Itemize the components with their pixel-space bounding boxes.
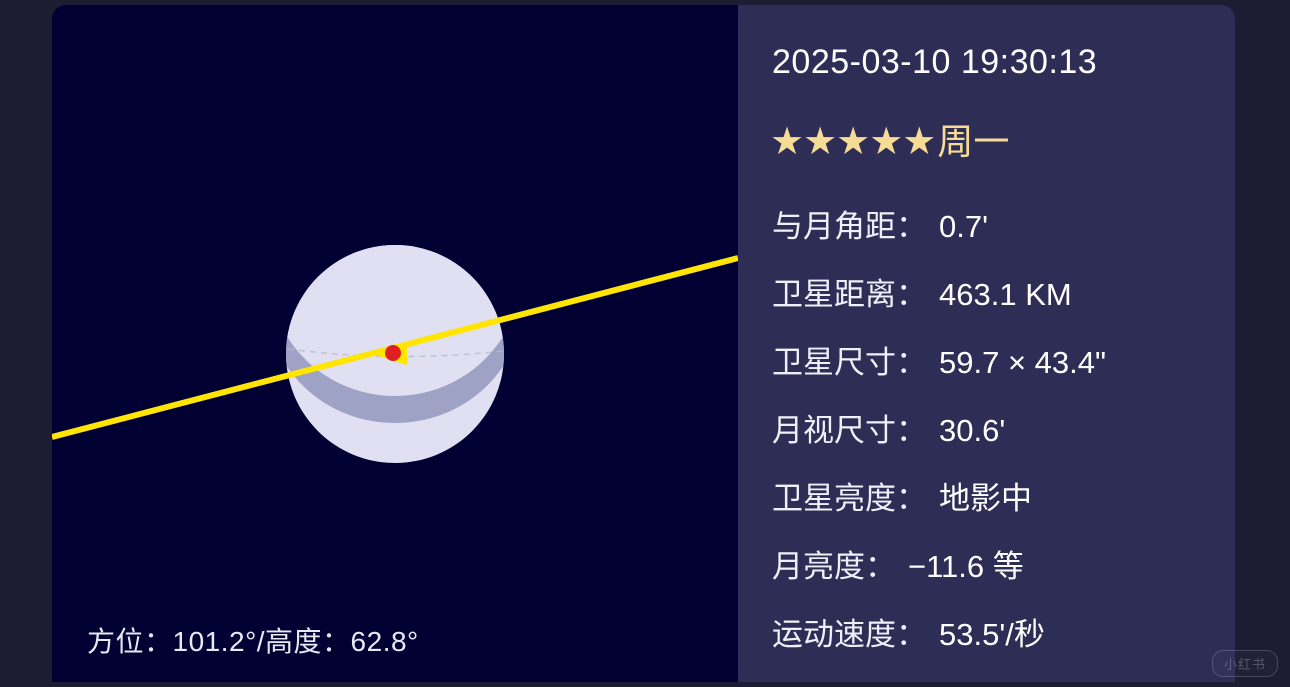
info-panel: 2025-03-10 19:30:13 ★★★★★ 周一 与月角距： 0.7' … [738,5,1235,682]
detail-row-angular-distance: 与月角距： 0.7' [772,201,1225,269]
moon-scene [52,5,738,682]
rating-row: ★★★★★ 周一 [770,123,1009,161]
detail-label: 运动速度： [772,609,927,654]
timestamp: 2025-03-10 19:30:13 [772,43,1097,82]
detail-row-satellite-distance: 卫星距离： 463.1 KM [772,269,1225,337]
detail-list: 与月角距： 0.7' 卫星距离： 463.1 KM 卫星尺寸： 59.7 × 4… [772,201,1225,677]
detail-row-moon-apparent-size: 月视尺寸： 30.6' [772,405,1225,473]
sky-viewport[interactable]: 方位：101.2°/高度：62.8° [52,5,738,682]
detail-value: 地影中 [939,473,1032,518]
detail-value: 59.7 × 43.4" [939,345,1106,381]
detail-value: 30.6' [939,413,1005,449]
star-rating-icon: ★★★★★ [770,123,935,161]
detail-row-satellite-size: 卫星尺寸： 59.7 × 43.4" [772,337,1225,405]
detail-value: 0.7' [939,209,988,245]
detail-value: 463.1 KM [939,277,1072,313]
detail-value: 53.5'/秒 [939,609,1045,654]
watermark: 小红书 [1212,650,1278,677]
detail-row-satellite-brightness: 卫星亮度： 地影中 [772,473,1225,541]
detail-value: −11.6 等 [908,541,1024,586]
detail-label: 卫星距离： [772,269,927,314]
detail-row-moon-magnitude: 月亮度： −11.6 等 [772,541,1225,609]
weekday-label: 周一 [937,123,1009,161]
detail-label: 月亮度： [772,541,896,586]
detail-label: 卫星尺寸： [772,337,927,382]
detail-label: 与月角距： [772,201,927,246]
detail-label: 卫星亮度： [772,473,927,518]
moon-terminator-shadow [267,150,523,423]
satellite-marker[interactable] [385,345,401,361]
detail-row-angular-speed: 运动速度： 53.5'/秒 [772,609,1225,677]
detail-label: 月视尺寸： [772,405,927,450]
sky-coordinates-readout: 方位：101.2°/高度：62.8° [87,620,419,660]
moon-diagram [52,5,738,682]
app-root: 方位：101.2°/高度：62.8° 2025-03-10 19:30:13 ★… [0,0,1290,687]
